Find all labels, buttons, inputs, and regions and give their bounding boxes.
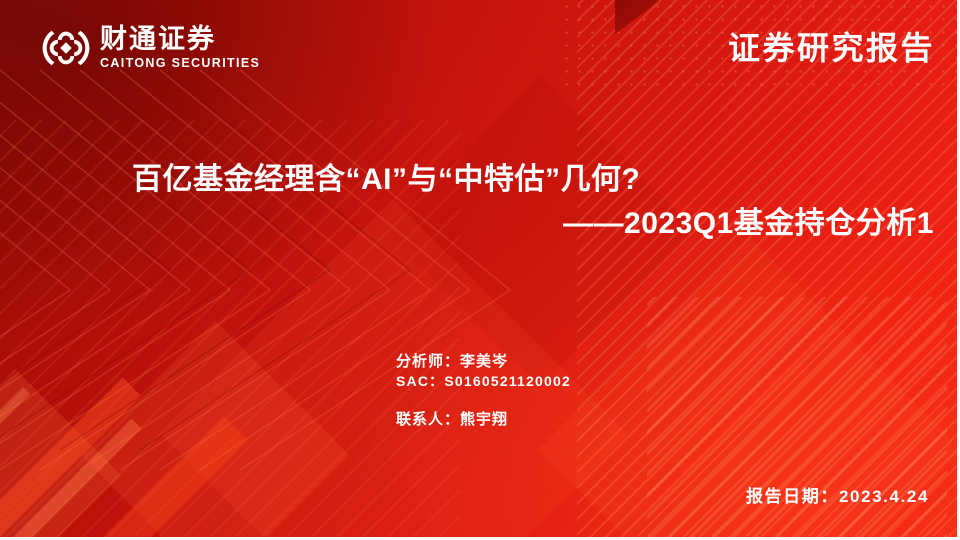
cover-header: 财通证券 CAITONG SECURITIES 证券研究报告 xyxy=(0,0,960,95)
analyst-name: 分析师：李美岑 xyxy=(396,352,571,372)
report-subtitle-line-2: ——2023Q1基金持仓分析1 xyxy=(132,204,934,244)
report-type-label: 证券研究报告 xyxy=(728,32,935,64)
analyst-credits: 分析师：李美岑 SAC：S0160521120002 联系人：熊宇翔 xyxy=(396,352,571,431)
analyst-sac-number: SAC：S0160521120002 xyxy=(396,372,571,390)
brand-name-cn: 财通证券 xyxy=(100,26,260,54)
analyst-contact-person: 联系人：熊宇翔 xyxy=(396,410,571,430)
report-title-line-1: 百亿基金经理含“AI”与“中特估”几何? xyxy=(132,160,934,200)
brand-name-en: CAITONG SECURITIES xyxy=(100,57,260,71)
caitong-emblem-icon xyxy=(42,24,90,72)
cover-title-block: 百亿基金经理含“AI”与“中特估”几何? ——2023Q1基金持仓分析1 xyxy=(0,160,960,244)
brand-text: 财通证券 CAITONG SECURITIES xyxy=(100,26,260,70)
report-cover-slide: 财通证券 CAITONG SECURITIES 证券研究报告 百亿基金经理含“A… xyxy=(0,0,960,540)
brand-lockup: 财通证券 CAITONG SECURITIES xyxy=(42,24,260,72)
report-date: 报告日期：2023.4.24 xyxy=(746,482,929,507)
